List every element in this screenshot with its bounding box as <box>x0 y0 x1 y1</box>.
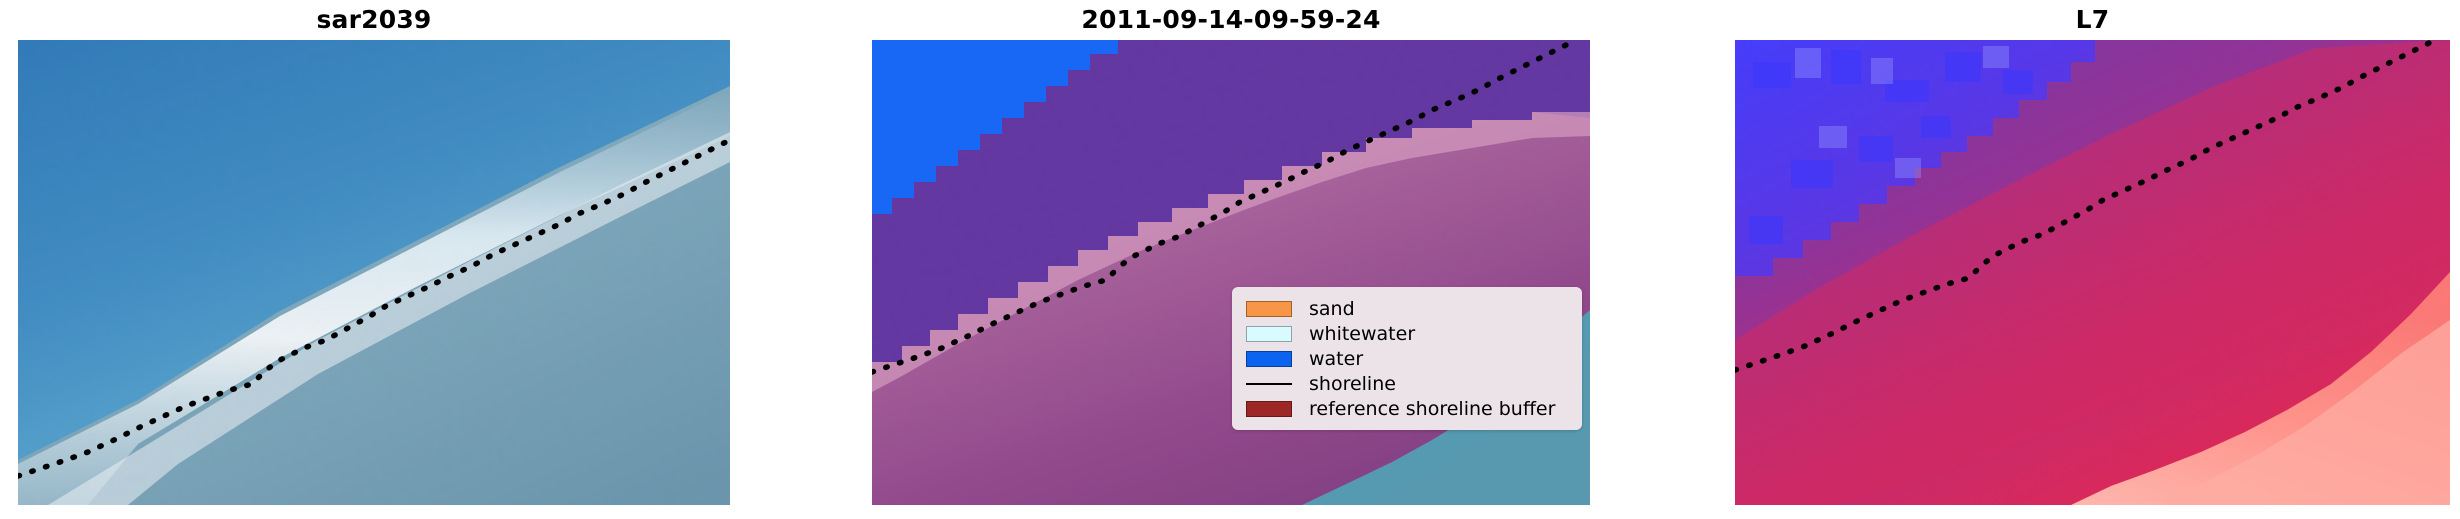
legend-item-water: water <box>1246 346 1570 371</box>
panel-classified: 2011-09-14-09-59-24 <box>872 0 1590 519</box>
whitewater-swatch-icon <box>1246 326 1292 342</box>
panel-title-classified: 2011-09-14-09-59-24 <box>872 6 1590 34</box>
panel-sar2039: sar2039 <box>18 0 730 519</box>
figure-canvas: sar2039 <box>0 0 2460 519</box>
legend-item-sand: sand <box>1246 296 1570 321</box>
panel-l7: L7 <box>1735 0 2450 519</box>
panel-image-l7 <box>1735 40 2450 505</box>
legend-item-whitewater: whitewater <box>1246 321 1570 346</box>
legend-label-shoreline: shoreline <box>1309 373 1396 395</box>
reference-shoreline-buffer-swatch-icon <box>1246 401 1292 417</box>
legend-label-sand: sand <box>1309 298 1355 320</box>
legend-label-reference-shoreline-buffer: reference shoreline buffer <box>1309 398 1555 420</box>
sand-swatch-icon <box>1246 301 1292 317</box>
legend-label-water: water <box>1309 348 1363 370</box>
panel-image-sar2039 <box>18 40 730 505</box>
legend-item-shoreline: shoreline <box>1246 371 1570 396</box>
panel-title-l7: L7 <box>1735 6 2450 34</box>
panel-image-classified <box>872 40 1590 505</box>
shoreline-line-icon <box>1246 376 1292 392</box>
panel-title-sar2039: sar2039 <box>18 6 730 34</box>
water-swatch-icon <box>1246 351 1292 367</box>
legend-label-whitewater: whitewater <box>1309 323 1415 345</box>
legend-item-reference-shoreline-buffer: reference shoreline buffer <box>1246 396 1570 421</box>
legend-box: sand whitewater water shoreline referenc… <box>1232 287 1582 430</box>
